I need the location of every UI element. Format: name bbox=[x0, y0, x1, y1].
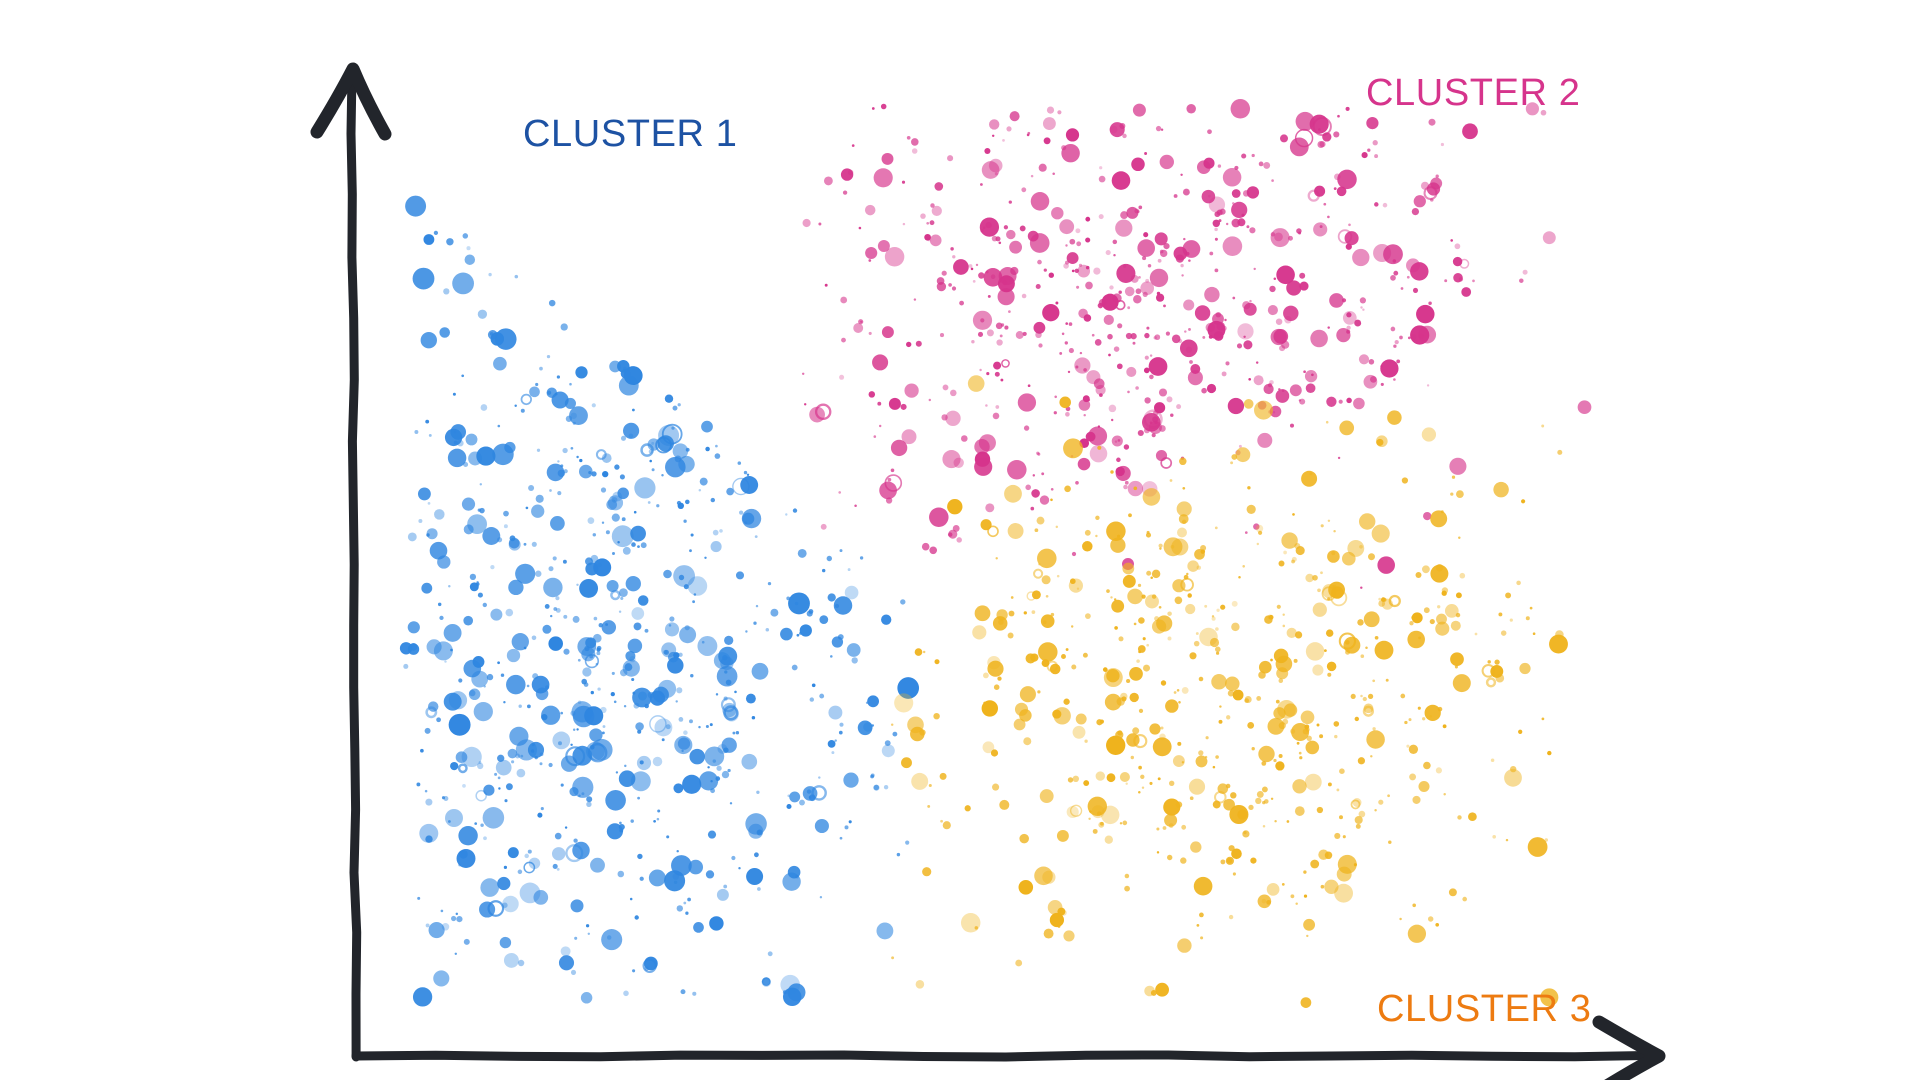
data-point bbox=[1032, 590, 1041, 599]
data-point-speck bbox=[1001, 323, 1004, 326]
data-point bbox=[573, 616, 580, 623]
data-point bbox=[882, 153, 894, 165]
data-point bbox=[1002, 139, 1005, 142]
data-point bbox=[1188, 328, 1191, 331]
data-point bbox=[419, 824, 438, 843]
data-point bbox=[1252, 747, 1255, 750]
data-point bbox=[444, 624, 462, 642]
data-point bbox=[1354, 863, 1357, 866]
data-point-speck bbox=[1243, 190, 1249, 196]
data-point-speck bbox=[648, 692, 654, 698]
data-point bbox=[1160, 726, 1163, 729]
data-point bbox=[911, 138, 919, 146]
data-point bbox=[1065, 244, 1067, 246]
data-point bbox=[1268, 718, 1285, 735]
data-point bbox=[819, 694, 824, 699]
data-point bbox=[1131, 756, 1134, 759]
data-point bbox=[1071, 664, 1076, 669]
data-point bbox=[1268, 305, 1278, 315]
data-point bbox=[1080, 352, 1082, 354]
data-point bbox=[891, 956, 894, 959]
data-point bbox=[803, 219, 811, 227]
data-point bbox=[783, 988, 801, 1006]
data-point bbox=[1116, 466, 1131, 481]
data-point bbox=[657, 810, 660, 813]
data-point bbox=[1068, 777, 1073, 782]
data-point bbox=[982, 700, 998, 716]
data-point bbox=[1399, 336, 1403, 340]
data-point-speck bbox=[562, 448, 567, 453]
data-point bbox=[998, 288, 1015, 305]
data-point bbox=[961, 435, 968, 442]
data-point bbox=[884, 785, 888, 789]
data-point-speck bbox=[998, 619, 1004, 625]
data-point-speck bbox=[606, 530, 610, 534]
data-point bbox=[1054, 396, 1057, 399]
data-point bbox=[1372, 525, 1390, 543]
data-point bbox=[983, 673, 989, 679]
data-point bbox=[1430, 565, 1448, 583]
data-point bbox=[456, 913, 458, 915]
data-point bbox=[1183, 238, 1185, 240]
data-point bbox=[1247, 486, 1250, 489]
data-point bbox=[1428, 119, 1435, 126]
data-point-speck bbox=[1084, 740, 1087, 743]
data-point bbox=[1055, 302, 1058, 305]
data-point bbox=[1310, 330, 1328, 348]
data-point bbox=[1287, 628, 1297, 638]
data-point bbox=[1047, 107, 1054, 114]
data-point-speck bbox=[1201, 388, 1207, 394]
data-point bbox=[602, 521, 604, 523]
data-point bbox=[425, 420, 429, 424]
data-point bbox=[849, 820, 852, 823]
data-point bbox=[1113, 254, 1115, 256]
data-point bbox=[999, 242, 1002, 245]
data-point bbox=[452, 273, 474, 295]
data-point bbox=[673, 406, 678, 411]
data-point bbox=[653, 757, 663, 767]
data-point bbox=[1275, 761, 1284, 770]
data-point bbox=[1287, 820, 1290, 823]
data-point bbox=[1402, 477, 1408, 483]
data-point bbox=[953, 259, 969, 275]
data-point-speck bbox=[1233, 872, 1236, 875]
data-point bbox=[992, 135, 994, 137]
data-point-speck bbox=[1083, 653, 1088, 658]
data-point bbox=[705, 447, 710, 452]
data-point bbox=[987, 329, 994, 336]
data-point bbox=[1111, 600, 1124, 613]
data-point bbox=[1024, 611, 1027, 614]
data-point bbox=[1180, 857, 1186, 863]
data-point bbox=[1266, 900, 1271, 905]
data-point-speck bbox=[586, 796, 592, 802]
data-point bbox=[905, 841, 909, 845]
data-point bbox=[1155, 983, 1169, 997]
data-point bbox=[766, 628, 770, 632]
data-point bbox=[1369, 359, 1375, 365]
data-point bbox=[828, 593, 836, 601]
data-point bbox=[1063, 930, 1074, 941]
data-point bbox=[1064, 485, 1071, 492]
data-point bbox=[940, 773, 947, 780]
data-point-speck bbox=[1230, 792, 1236, 798]
data-point bbox=[1519, 663, 1530, 674]
data-point bbox=[985, 503, 994, 512]
data-point bbox=[1423, 762, 1431, 770]
data-point bbox=[1278, 388, 1280, 390]
data-point bbox=[1382, 598, 1386, 602]
data-point bbox=[1115, 219, 1132, 236]
data-point bbox=[1317, 724, 1320, 727]
data-point bbox=[792, 665, 798, 671]
data-point bbox=[926, 222, 929, 225]
data-point bbox=[1337, 186, 1347, 196]
data-point bbox=[1044, 268, 1047, 271]
data-point bbox=[1301, 471, 1317, 487]
data-point bbox=[563, 615, 567, 619]
data-point bbox=[1254, 268, 1256, 270]
data-point bbox=[676, 700, 678, 702]
data-point-speck bbox=[1145, 356, 1149, 360]
data-point bbox=[1310, 860, 1319, 869]
data-point-speck bbox=[1126, 679, 1130, 683]
data-point bbox=[662, 738, 665, 741]
data-point bbox=[433, 970, 449, 986]
data-point bbox=[1541, 425, 1544, 428]
data-point bbox=[1443, 793, 1445, 795]
data-point bbox=[1077, 265, 1090, 278]
data-point bbox=[601, 929, 622, 950]
data-point-speck bbox=[1146, 533, 1151, 538]
data-point bbox=[1299, 752, 1302, 755]
y-axis-line bbox=[351, 72, 357, 1057]
data-point-speck bbox=[1151, 990, 1157, 996]
data-point bbox=[563, 649, 569, 655]
data-point bbox=[462, 498, 475, 511]
data-point bbox=[1461, 287, 1471, 297]
data-point bbox=[910, 727, 925, 742]
data-point bbox=[606, 499, 617, 510]
data-point bbox=[1042, 304, 1059, 321]
data-point bbox=[1274, 278, 1277, 281]
data-point-speck bbox=[1321, 524, 1324, 527]
data-point bbox=[1137, 239, 1155, 257]
data-point bbox=[1238, 576, 1241, 579]
data-point bbox=[1153, 737, 1172, 756]
data-point bbox=[1303, 870, 1306, 873]
data-point bbox=[1306, 935, 1308, 937]
data-point bbox=[1040, 789, 1054, 803]
data-point bbox=[449, 714, 471, 736]
data-point bbox=[480, 483, 482, 485]
data-point bbox=[1199, 677, 1204, 682]
data-point-speck bbox=[1258, 531, 1262, 535]
data-point bbox=[623, 367, 626, 370]
data-point bbox=[1144, 397, 1150, 403]
data-point bbox=[1190, 796, 1194, 800]
data-point-speck bbox=[1073, 776, 1079, 782]
data-point bbox=[450, 762, 458, 770]
data-point bbox=[423, 234, 434, 245]
data-point-speck bbox=[1057, 110, 1061, 114]
data-point bbox=[537, 813, 542, 818]
data-point bbox=[1204, 605, 1207, 608]
data-point-speck bbox=[1109, 285, 1113, 289]
data-point bbox=[1125, 874, 1130, 879]
data-point bbox=[531, 749, 534, 752]
data-point bbox=[623, 991, 629, 997]
data-point bbox=[873, 785, 879, 791]
data-point bbox=[439, 616, 443, 620]
data-point bbox=[1065, 322, 1068, 325]
data-point bbox=[1458, 537, 1460, 539]
data-point bbox=[780, 628, 793, 641]
data-point-speck bbox=[535, 383, 538, 386]
data-point bbox=[1368, 694, 1373, 699]
data-point-speck bbox=[555, 596, 559, 600]
data-point bbox=[1353, 398, 1365, 410]
data-point-speck bbox=[1492, 835, 1496, 839]
data-point bbox=[673, 783, 683, 793]
data-point bbox=[430, 542, 448, 560]
data-point bbox=[865, 247, 877, 259]
data-point-speck bbox=[948, 283, 952, 287]
data-point-speck bbox=[1459, 277, 1463, 281]
data-point bbox=[840, 549, 843, 552]
data-point bbox=[1143, 637, 1146, 640]
data-point bbox=[1418, 636, 1421, 639]
data-point bbox=[490, 609, 502, 621]
data-point-speck bbox=[1436, 175, 1439, 178]
data-point bbox=[1059, 219, 1074, 234]
data-point bbox=[623, 547, 631, 555]
data-point-speck bbox=[757, 830, 763, 836]
data-point bbox=[1157, 851, 1159, 853]
data-point bbox=[858, 720, 873, 735]
data-point-speck bbox=[1096, 719, 1102, 725]
data-point-speck bbox=[1216, 609, 1219, 612]
data-point-speck bbox=[888, 478, 892, 482]
data-point bbox=[929, 546, 937, 554]
data-point-speck bbox=[428, 502, 431, 505]
data-point bbox=[635, 915, 639, 919]
data-point-speck bbox=[675, 456, 682, 463]
data-point-speck bbox=[716, 766, 721, 771]
data-point-speck bbox=[502, 902, 508, 908]
data-point bbox=[1177, 501, 1192, 516]
data-point bbox=[631, 607, 644, 620]
data-point bbox=[942, 450, 960, 468]
data-point-speck bbox=[1227, 858, 1232, 863]
data-point bbox=[916, 980, 925, 989]
data-point bbox=[1015, 960, 1022, 967]
data-point bbox=[1000, 379, 1003, 382]
data-point-speck bbox=[1228, 690, 1234, 696]
data-point bbox=[1200, 936, 1203, 939]
data-point bbox=[1098, 425, 1100, 427]
data-point-speck bbox=[1083, 368, 1087, 372]
data-point bbox=[793, 508, 797, 512]
data-point bbox=[1267, 883, 1280, 896]
data-point bbox=[1182, 487, 1185, 490]
data-point bbox=[818, 776, 820, 778]
data-point-speck bbox=[518, 960, 524, 966]
data-point-speck bbox=[1296, 228, 1301, 233]
data-point bbox=[1422, 427, 1436, 441]
data-point bbox=[1387, 410, 1402, 425]
data-point bbox=[1547, 751, 1551, 755]
data-point bbox=[971, 340, 974, 343]
data-point bbox=[1072, 270, 1075, 273]
data-point bbox=[1364, 611, 1380, 627]
data-point-speck bbox=[1076, 286, 1079, 289]
data-point bbox=[815, 819, 829, 833]
data-point bbox=[1279, 561, 1285, 567]
data-point bbox=[1301, 997, 1312, 1008]
data-point-speck bbox=[920, 213, 926, 219]
data-point bbox=[1243, 340, 1252, 349]
data-point bbox=[701, 421, 713, 433]
data-point bbox=[1345, 640, 1350, 645]
data-point bbox=[953, 525, 960, 532]
data-point bbox=[724, 636, 733, 645]
data-point-speck bbox=[1245, 531, 1248, 534]
data-point bbox=[691, 533, 694, 536]
data-point-ring bbox=[1487, 679, 1495, 687]
data-point-speck bbox=[912, 148, 918, 154]
data-point bbox=[1187, 593, 1191, 597]
data-point bbox=[1059, 397, 1071, 409]
data-point bbox=[1409, 718, 1412, 721]
data-point-speck bbox=[1154, 336, 1157, 339]
x-axis-line bbox=[356, 1055, 1654, 1057]
data-point bbox=[950, 247, 953, 250]
data-point bbox=[1033, 474, 1035, 476]
data-point bbox=[1130, 333, 1136, 339]
data-point bbox=[1327, 550, 1340, 563]
data-point bbox=[1295, 902, 1297, 904]
data-point bbox=[1320, 571, 1323, 574]
data-point-speck bbox=[1234, 166, 1238, 170]
data-point bbox=[1182, 761, 1184, 763]
data-point bbox=[959, 301, 964, 306]
data-point bbox=[1085, 237, 1090, 242]
data-point bbox=[504, 442, 515, 453]
data-point bbox=[1242, 301, 1250, 309]
data-point bbox=[994, 684, 1000, 690]
data-point-speck bbox=[724, 697, 728, 701]
data-point bbox=[1215, 527, 1218, 530]
data-point bbox=[1256, 361, 1258, 363]
data-point bbox=[1331, 586, 1343, 598]
data-point bbox=[1093, 829, 1098, 834]
data-point-speck bbox=[713, 530, 719, 536]
data-point bbox=[1197, 160, 1211, 174]
data-point-speck bbox=[594, 617, 598, 621]
data-point-speck bbox=[535, 571, 541, 577]
data-point bbox=[1181, 274, 1183, 276]
data-point bbox=[1115, 440, 1117, 442]
data-point bbox=[1043, 117, 1056, 130]
data-point-speck bbox=[1360, 306, 1362, 308]
data-point bbox=[547, 391, 551, 395]
data-point bbox=[1016, 331, 1024, 339]
data-point bbox=[788, 592, 810, 614]
data-point bbox=[1170, 479, 1173, 482]
data-point bbox=[1387, 794, 1390, 797]
data-point-speck bbox=[1138, 430, 1144, 436]
data-point bbox=[741, 754, 757, 770]
data-point bbox=[508, 847, 519, 858]
data-point bbox=[421, 332, 437, 348]
data-point bbox=[589, 654, 593, 658]
data-point bbox=[1375, 636, 1379, 640]
data-point bbox=[841, 338, 846, 343]
x-axis-arrow-icon bbox=[1597, 1022, 1659, 1080]
data-point bbox=[1401, 287, 1404, 290]
data-point bbox=[619, 770, 636, 787]
data-point bbox=[1299, 282, 1308, 291]
data-point bbox=[1124, 444, 1129, 449]
data-point bbox=[625, 651, 635, 661]
data-point-speck bbox=[1136, 659, 1140, 663]
data-point bbox=[1106, 669, 1119, 682]
data-point bbox=[429, 922, 445, 938]
data-point-speck bbox=[839, 731, 843, 735]
data-point bbox=[1084, 314, 1092, 322]
data-point bbox=[446, 238, 453, 245]
data-point bbox=[1452, 476, 1455, 479]
data-point bbox=[786, 597, 790, 601]
data-point-ring bbox=[1002, 360, 1009, 367]
data-point bbox=[747, 474, 749, 476]
data-point bbox=[882, 744, 895, 757]
data-point-speck bbox=[1336, 788, 1339, 791]
data-point bbox=[561, 756, 577, 772]
data-point bbox=[1404, 721, 1407, 724]
data-point bbox=[1156, 827, 1159, 830]
data-point bbox=[943, 384, 949, 390]
data-point bbox=[592, 403, 596, 407]
data-point-speck bbox=[1334, 735, 1337, 738]
scatter-plot-page: CLUSTER 1 CLUSTER 2 CLUSTER 3 bbox=[0, 0, 1920, 1080]
data-point bbox=[1004, 225, 1008, 229]
data-point-speck bbox=[1197, 924, 1200, 927]
data-point bbox=[1355, 717, 1359, 721]
data-point bbox=[466, 246, 470, 250]
data-point bbox=[739, 511, 743, 515]
data-point bbox=[483, 603, 487, 607]
data-point bbox=[1321, 885, 1325, 889]
data-point bbox=[549, 300, 556, 307]
data-point bbox=[620, 474, 625, 479]
data-point bbox=[1198, 750, 1203, 755]
data-point-ring bbox=[1034, 570, 1042, 578]
data-point bbox=[991, 749, 998, 756]
data-point bbox=[1346, 107, 1350, 111]
data-point bbox=[1412, 796, 1420, 804]
cluster-3-label: CLUSTER 3 bbox=[1377, 988, 1591, 1031]
data-point bbox=[1076, 714, 1087, 725]
data-point-speck bbox=[1167, 611, 1172, 616]
data-point-speck bbox=[1416, 572, 1422, 578]
data-point bbox=[1237, 323, 1253, 339]
data-point-speck bbox=[952, 255, 955, 258]
data-point bbox=[552, 732, 570, 750]
data-point-speck bbox=[1216, 312, 1221, 317]
